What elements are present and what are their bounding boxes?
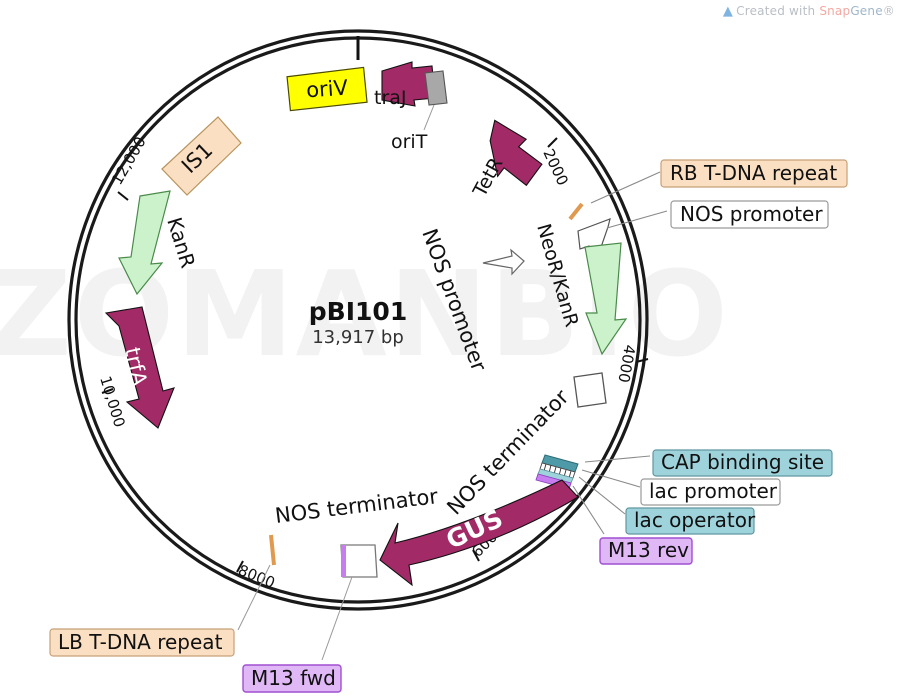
callout-label-nos-promoter: NOS promoter [680, 202, 823, 226]
callout-label-rb-t-dna-repeat: RB T-DNA repeat [670, 161, 837, 185]
feature-label-oriv: oriV [305, 76, 349, 103]
feature-nos-terminator-right[interactable] [574, 373, 606, 407]
callout-label-m13-fwd: M13 fwd [251, 666, 336, 690]
feature-rb-t-dna-repeat[interactable] [570, 204, 582, 219]
tick-label-12000: 12,000 [108, 134, 150, 188]
callout-label-m13-rev: M13 rev [608, 538, 689, 562]
callout-nos-promoter[interactable]: NOS promoter [671, 201, 828, 228]
callout-lac-promoter[interactable]: lac promoter [641, 479, 780, 505]
callout-cap-binding-site[interactable]: CAP binding site [653, 450, 832, 476]
feature-oriv[interactable]: oriV [287, 67, 367, 110]
callout-label-lb-t-dna-repeat: LB T-DNA repeat [58, 630, 223, 654]
callout-m13-fwd[interactable]: M13 fwd [243, 665, 341, 692]
feature-label-orit: oriT [391, 131, 428, 153]
callout-rb-t-dna-repeat[interactable]: RB T-DNA repeat [661, 160, 847, 187]
plasmid-name: pBI101 [309, 297, 407, 326]
tick-label-2000: 2000 [539, 146, 571, 188]
snapgene-credit: ▲Created with SnapGene® [723, 4, 895, 19]
plasmid-diagram: ZOMANBIO 2000 4000 6000 8000 10,000 12,0… [0, 0, 905, 696]
snapgene-logo-icon: ▲ [723, 4, 733, 19]
callout-m13-rev[interactable]: M13 rev [600, 538, 692, 564]
callout-label-cap-binding-site: CAP binding site [661, 450, 824, 474]
feature-label-traj: traJ [374, 87, 407, 109]
tick-label-8000: 8000 [236, 561, 278, 592]
feature-m13-fwd [341, 545, 346, 577]
feature-orit[interactable] [424, 71, 447, 130]
callout-lb-t-dna-repeat[interactable]: LB T-DNA repeat [50, 629, 234, 656]
callout-lac-operator[interactable]: lac operator [626, 508, 756, 534]
credit-brand-b: Gene [850, 4, 882, 18]
feature-is1[interactable]: IS1 [162, 117, 241, 195]
callout-label-lac-promoter: lac promoter [649, 479, 778, 503]
plasmid-map-canvas: ZOMANBIO 2000 4000 6000 8000 10,000 12,0… [0, 0, 905, 696]
credit-registered-mark: ® [883, 4, 895, 18]
plasmid-size: 13,917 bp [312, 327, 404, 348]
callout-label-lac-operator: lac operator [634, 508, 756, 532]
credit-prefix: Created with [736, 4, 819, 18]
credit-brand-a: Snap [819, 4, 850, 18]
feature-label-nos-terminator-left: NOS terminator [274, 484, 440, 528]
